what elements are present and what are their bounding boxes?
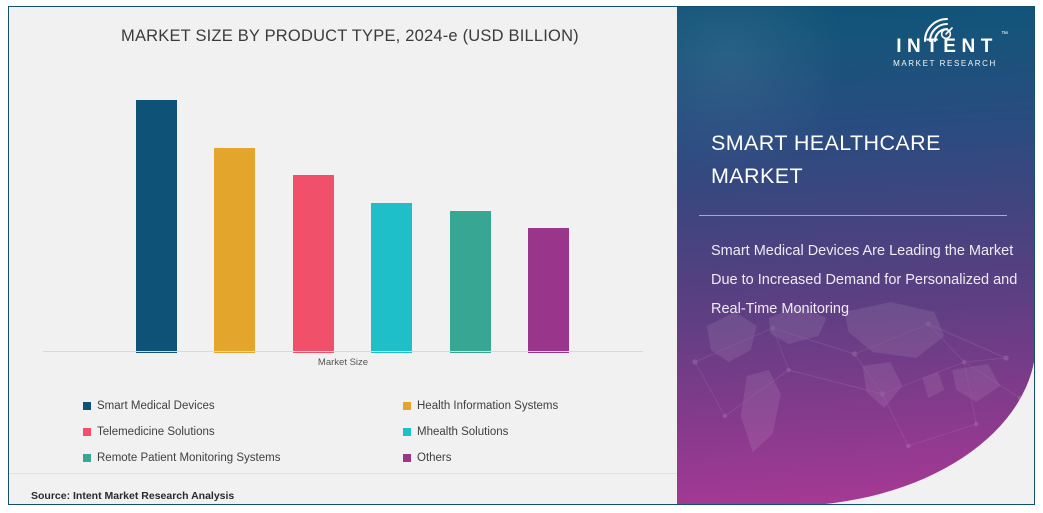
legend-label: Telemedicine Solutions — [97, 426, 215, 438]
legend-item-others: Others — [403, 452, 623, 464]
infographic-card: MARKET SIZE BY PRODUCT TYPE, 2024-e (USD… — [8, 6, 1035, 505]
panel-title: SMART HEALTHCARE MARKET — [711, 127, 1011, 193]
bar-others — [528, 228, 569, 353]
chart-pane: MARKET SIZE BY PRODUCT TYPE, 2024-e (USD… — [9, 7, 677, 504]
bar-telemedicine-solutions — [293, 175, 334, 353]
legend-row: Remote Patient Monitoring Systems Others — [83, 445, 623, 471]
legend-swatch — [403, 428, 411, 436]
x-axis-label: Market Size — [9, 357, 677, 368]
bar-mhealth-solutions — [371, 203, 412, 353]
legend-row: Smart Medical Devices Health Information… — [83, 393, 623, 419]
logo-wordmark: INTENT ™ — [880, 36, 1010, 58]
legend-swatch — [83, 454, 91, 462]
legend-item-health-information-systems: Health Information Systems — [403, 400, 623, 412]
panel-subtitle: Smart Medical Devices Are Leading the Ma… — [711, 237, 1029, 324]
legend-label: Health Information Systems — [417, 400, 558, 412]
bar-smart-medical-devices — [136, 100, 177, 353]
bar-remote-patient-monitoring-systems — [450, 211, 491, 353]
x-axis-line — [43, 351, 643, 352]
legend-label: Others — [417, 452, 452, 464]
chart-legend: Smart Medical Devices Health Information… — [83, 393, 623, 471]
chart-title: MARKET SIZE BY PRODUCT TYPE, 2024-e (USD… — [121, 27, 579, 46]
legend-item-smart-medical-devices: Smart Medical Devices — [83, 400, 403, 412]
source-note: Source: Intent Market Research Analysis — [31, 490, 234, 502]
legend-swatch — [403, 402, 411, 410]
footer-divider — [9, 473, 677, 474]
logo-word-text: INTENT — [896, 36, 998, 57]
logo-tagline: MARKET RESEARCH — [880, 59, 1010, 68]
legend-row: Telemedicine Solutions Mhealth Solutions — [83, 419, 623, 445]
legend-item-mhealth-solutions: Mhealth Solutions — [403, 426, 623, 438]
plot-area — [43, 87, 643, 353]
bar-health-information-systems — [214, 148, 255, 353]
legend-swatch — [83, 402, 91, 410]
brand-logo: INTENT ™ MARKET RESEARCH — [880, 17, 1010, 68]
legend-swatch — [83, 428, 91, 436]
panel-divider — [699, 215, 1007, 216]
legend-label: Smart Medical Devices — [97, 400, 215, 412]
legend-item-remote-patient-monitoring-systems: Remote Patient Monitoring Systems — [83, 452, 403, 464]
legend-swatch — [403, 454, 411, 462]
legend-label: Mhealth Solutions — [417, 426, 508, 438]
screenshot-root: MARKET SIZE BY PRODUCT TYPE, 2024-e (USD… — [0, 0, 1043, 513]
legend-item-telemedicine-solutions: Telemedicine Solutions — [83, 426, 403, 438]
logo-trademark: ™ — [1001, 31, 1008, 38]
legend-label: Remote Patient Monitoring Systems — [97, 452, 280, 464]
